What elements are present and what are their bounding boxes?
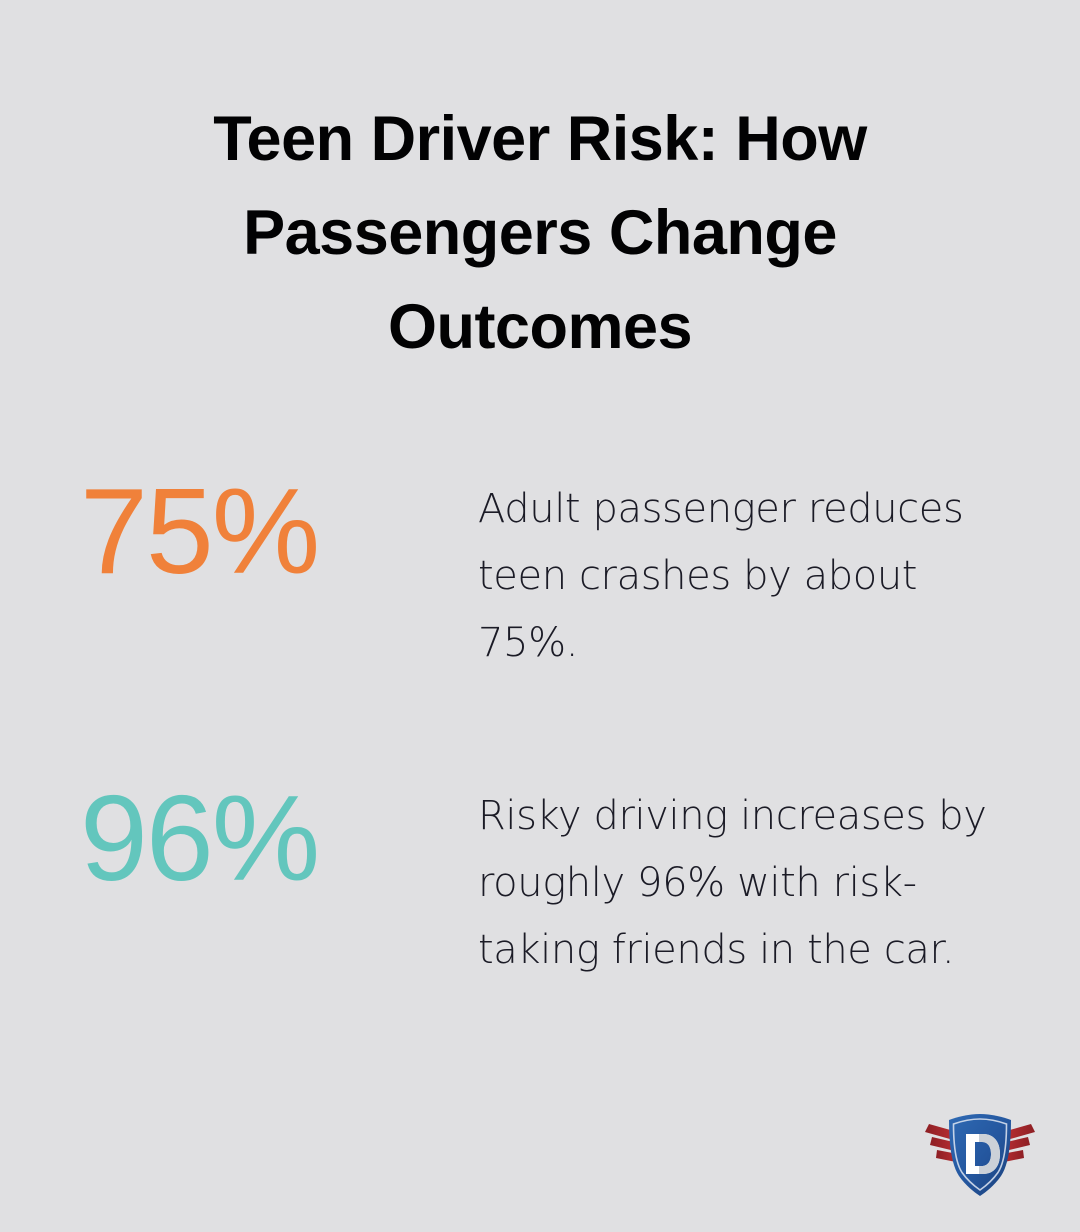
title-line-2: Passengers Change	[70, 186, 1010, 280]
statistic-value-2: 96%	[80, 763, 478, 913]
statistic-item-2: 96% Risky driving increases by roughly 9…	[0, 763, 1080, 984]
statistic-value-1: 75%	[80, 456, 478, 606]
page-title: Teen Driver Risk: How Passengers Change …	[0, 92, 1080, 374]
infographic-canvas: Teen Driver Risk: How Passengers Change …	[0, 0, 1080, 1232]
statistic-item-1: 75% Adult passenger reduces teen crashes…	[0, 456, 1080, 677]
title-line-3: Outcomes	[70, 280, 1010, 374]
statistics-list: 75% Adult passenger reduces teen crashes…	[0, 456, 1080, 984]
winged-shield-d-logo	[921, 1108, 1039, 1200]
logo-shield	[949, 1114, 1011, 1196]
statistic-description-1: Adult passenger reduces teen crashes by …	[478, 456, 1080, 677]
statistic-description-2: Risky driving increases by roughly 96% w…	[478, 763, 1080, 984]
title-line-1: Teen Driver Risk: How	[70, 92, 1010, 186]
